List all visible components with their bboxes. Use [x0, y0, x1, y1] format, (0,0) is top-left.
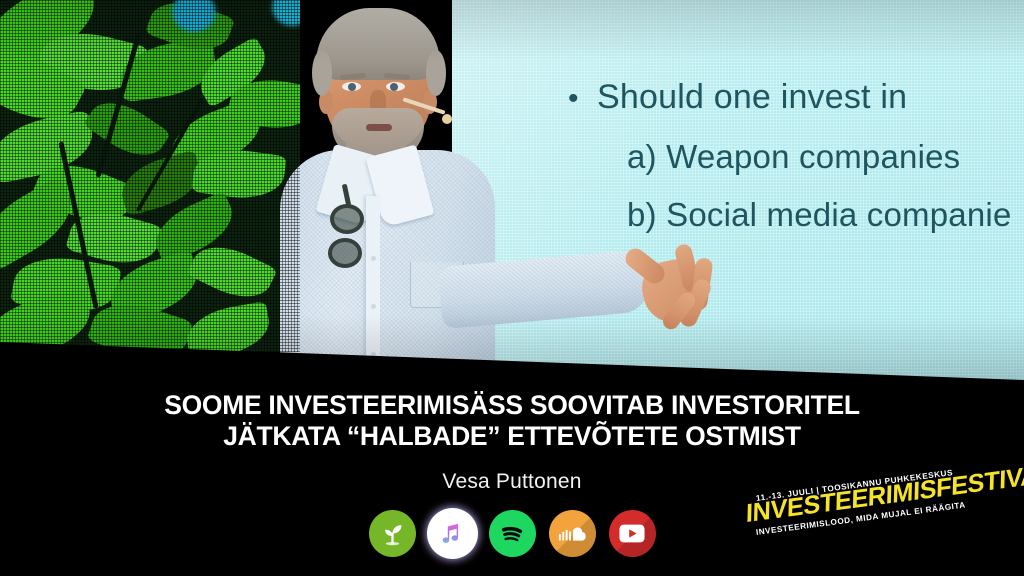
title-line-2: JÄTKATA “HALBADE” ETTEVÕTETE OSTMIST [0, 421, 1024, 452]
spotify-icon [497, 519, 527, 549]
bullet-glyph: • [568, 82, 579, 116]
apple-podcasts-icon-button[interactable] [429, 510, 476, 557]
festival-logo: 11.-13. JUULI | TOOSIKANNU PUHKEKESKUS I… [742, 476, 1012, 566]
sunglasses-icon [330, 198, 366, 276]
led-wall-leaves-backdrop [0, 0, 300, 352]
conference-stage-photo: • Should one invest in a) Weapon compani… [0, 0, 1024, 384]
speaker-hand [627, 236, 727, 332]
slide-option-a: a) Weapon companies [627, 138, 960, 176]
youtube-icon [619, 524, 645, 543]
slide-option-b: b) Social media companie [627, 196, 1012, 234]
screenshot-root: • Should one invest in a) Weapon compani… [0, 0, 1024, 576]
led-pixel-grid-overlay [0, 0, 300, 352]
title-line-1: SOOME INVESTEERIMISÄSS SOOVITAB INVESTOR… [164, 390, 860, 420]
music-note-icon [438, 520, 466, 548]
page-title: SOOME INVESTEERIMISÄSS SOOVITAB INVESTOR… [0, 390, 1024, 451]
spotify-icon-button[interactable] [489, 510, 536, 557]
presentation-slide-screen [452, 0, 1024, 384]
slide-bullet-line-1: • Should one invest in [597, 78, 907, 117]
sprout-icon-button[interactable] [369, 510, 416, 557]
speaker-mouth [366, 124, 392, 131]
microphone-tip [442, 114, 452, 124]
soundcloud-icon [557, 523, 587, 545]
youtube-icon-button[interactable] [609, 510, 656, 557]
sprout-icon [379, 520, 406, 547]
soundcloud-icon-button[interactable] [549, 510, 596, 557]
speaker-hair [316, 8, 440, 80]
slide-line-1-text: Should one invest in [597, 78, 907, 116]
